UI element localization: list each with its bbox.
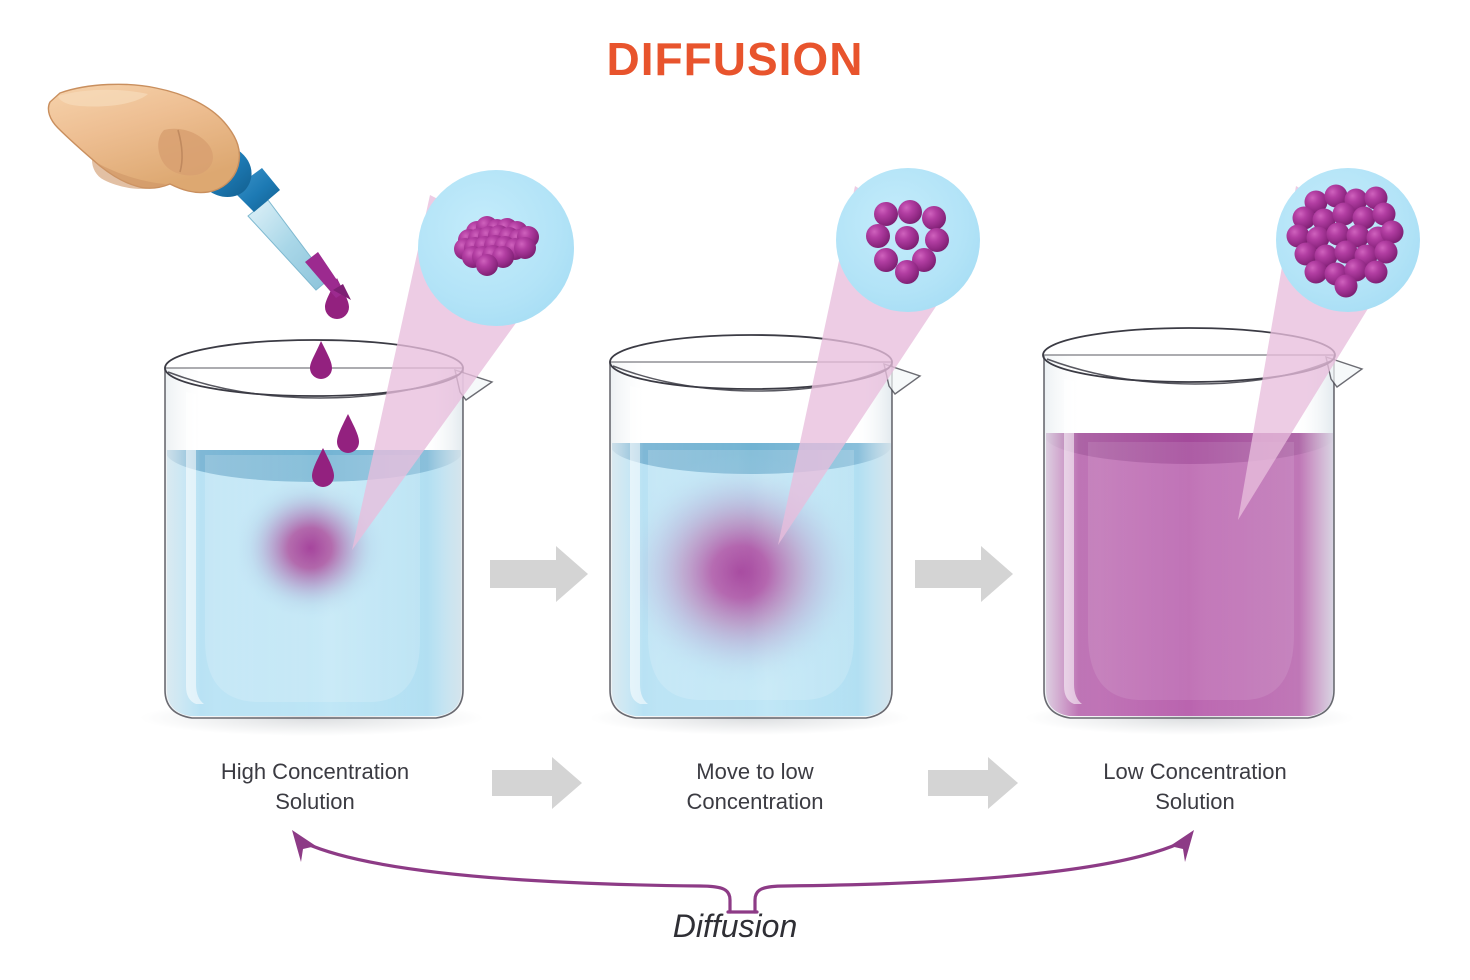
solute-particle bbox=[476, 254, 498, 276]
hand-with-dropper bbox=[48, 84, 351, 300]
solute-particle bbox=[866, 224, 890, 248]
solute-particle bbox=[895, 260, 919, 284]
flow-arrow-middle-2 bbox=[915, 546, 1013, 602]
solute-particle bbox=[1335, 275, 1358, 298]
solute-particle bbox=[898, 200, 922, 224]
diffusion-caption: Diffusion bbox=[0, 908, 1470, 945]
solute-particle bbox=[1381, 221, 1404, 244]
step-label-2-line1: Move to low bbox=[696, 759, 813, 784]
solute-particle bbox=[1375, 241, 1398, 264]
diagram-canvas bbox=[0, 0, 1470, 980]
solute-particle bbox=[1365, 261, 1388, 284]
flow-arrow-middle-1 bbox=[490, 546, 588, 602]
diffusion-diagram: DIFFUSION bbox=[0, 0, 1470, 980]
magnifier-disc-1 bbox=[418, 170, 574, 326]
magnifier-disc-3 bbox=[1276, 168, 1420, 312]
solute-particle bbox=[514, 237, 536, 259]
brace-arrowhead-left bbox=[292, 830, 316, 862]
solute-particle bbox=[925, 228, 949, 252]
solute-particle bbox=[874, 248, 898, 272]
flow-arrow-label-1 bbox=[492, 757, 582, 809]
step-label-3-line1: Low Concentration bbox=[1103, 759, 1286, 784]
step-label-3-line2: Solution bbox=[1155, 789, 1235, 814]
step-label-2: Move to low Concentration bbox=[610, 757, 900, 817]
solute-particle bbox=[1305, 261, 1328, 284]
step-label-1: High Concentration Solution bbox=[150, 757, 480, 817]
brace-arrowhead-right bbox=[1170, 830, 1194, 862]
step-label-2-line2: Concentration bbox=[687, 789, 824, 814]
solute-particle bbox=[922, 206, 946, 230]
step-label-1-line2: Solution bbox=[275, 789, 355, 814]
magnifier-disc-2 bbox=[836, 168, 980, 312]
dropper-tube bbox=[248, 200, 328, 290]
diffusion-brace bbox=[305, 843, 1180, 912]
step-label-1-line1: High Concentration bbox=[221, 759, 409, 784]
solute-particle bbox=[895, 226, 919, 250]
flow-arrow-label-2 bbox=[928, 757, 1018, 809]
solute-particle bbox=[1333, 203, 1356, 226]
solute-particle bbox=[874, 202, 898, 226]
step-label-3: Low Concentration Solution bbox=[1030, 757, 1360, 817]
